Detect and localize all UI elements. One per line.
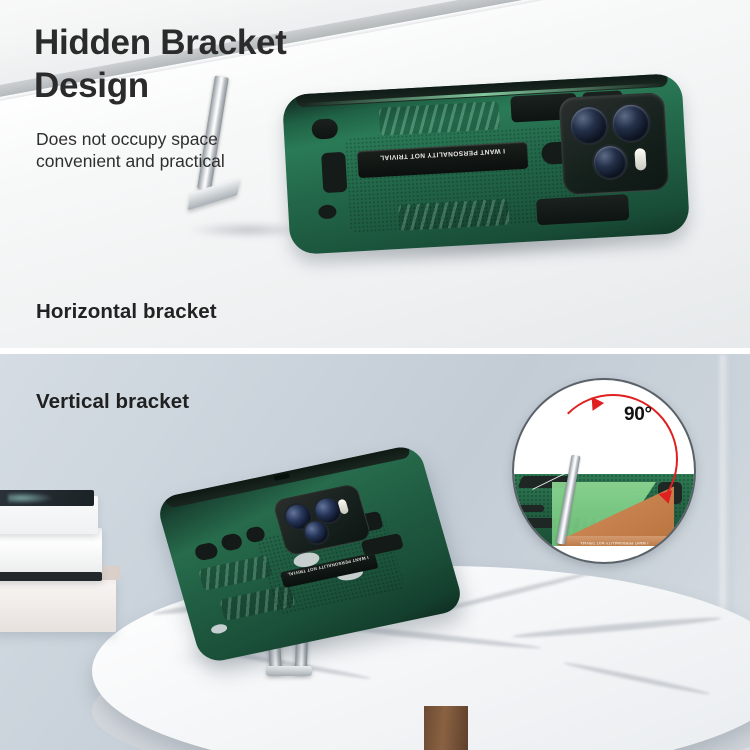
camera-island xyxy=(558,92,669,196)
marble-vein xyxy=(563,660,711,696)
product-image-root: I WANT PERSONALITY NOT TRIVIAL Hidden Br… xyxy=(0,0,750,750)
case-detail xyxy=(193,542,219,562)
marble-vein xyxy=(512,615,722,640)
caption-vertical-bracket: Vertical bracket xyxy=(36,390,189,414)
subtitle-line-1: Does not occupy space xyxy=(36,128,366,150)
book-cover-art xyxy=(8,492,54,504)
title-line-2: Design xyxy=(34,65,434,108)
camera-lens xyxy=(570,106,608,144)
camera-flash-icon xyxy=(634,148,646,171)
caption-horizontal-bracket: Horizontal bracket xyxy=(36,300,217,324)
case-vent-hatch xyxy=(219,585,296,621)
subtitle-line-2: convenient and practical xyxy=(36,150,366,172)
inset-angle-label: 90° xyxy=(624,404,652,426)
table-leg xyxy=(424,706,468,750)
case-detail xyxy=(220,532,244,552)
inset-bottom-band xyxy=(514,546,694,562)
inset-bracket-bar-text: I WANT PERSONALITY NOT TRIVIAL xyxy=(560,541,668,545)
top-panel: I WANT PERSONALITY NOT TRIVIAL Hidden Br… xyxy=(0,0,750,348)
angle-detail-inset: I WANT PERSONALITY NOT TRIVIAL 90° xyxy=(512,378,696,564)
case-cutout xyxy=(210,623,228,635)
case-detail xyxy=(536,194,629,225)
page-title: Hidden Bracket Design xyxy=(34,22,434,107)
book-middle-spine xyxy=(0,572,102,581)
title-line-1: Hidden Bracket xyxy=(34,22,434,65)
case-detail xyxy=(318,204,337,219)
case-vent-hatch xyxy=(398,199,509,231)
book-bottom xyxy=(0,574,116,632)
kickstand-base xyxy=(266,666,312,676)
camera-lens xyxy=(593,145,627,179)
case-vent-hatch xyxy=(198,555,273,591)
camera-lens xyxy=(612,104,650,142)
subtitle: Does not occupy space convenient and pra… xyxy=(36,128,366,172)
